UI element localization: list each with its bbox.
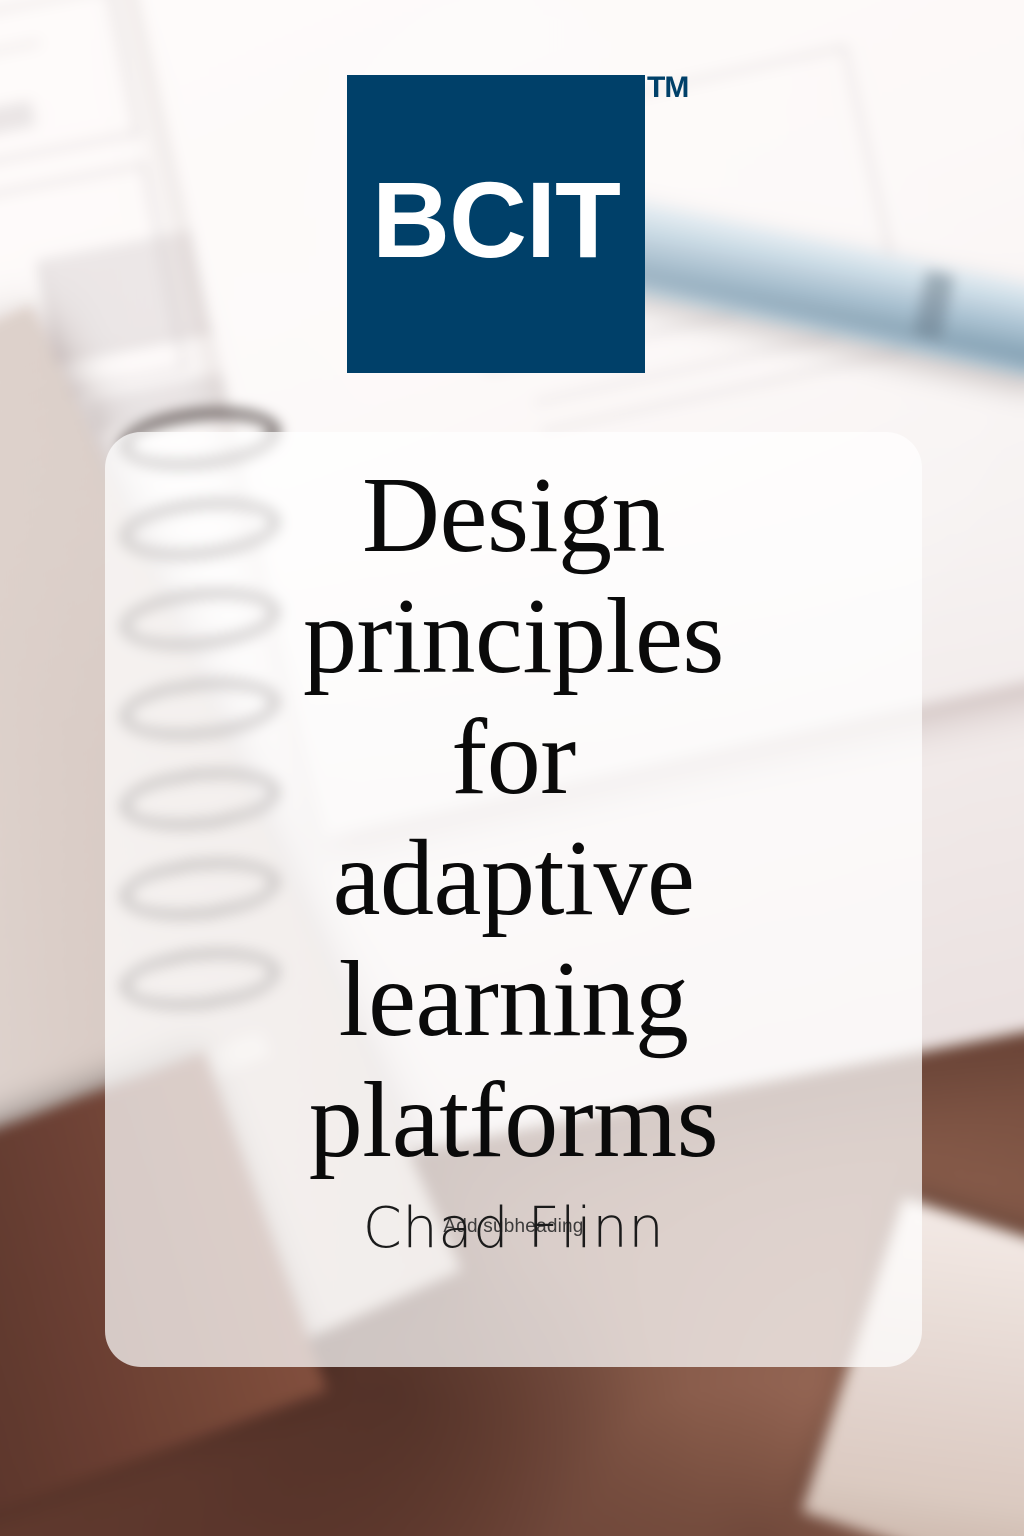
title-line: principles	[303, 577, 724, 696]
title-card: Design principles for adaptive learning …	[105, 432, 922, 1367]
trademark-icon: TM	[647, 71, 688, 105]
subtitle-area: Add subheading Chad Flinn	[105, 1190, 922, 1280]
title-line: learning	[339, 940, 689, 1059]
title-line: for	[451, 698, 575, 817]
logo-wordmark: BCIT	[347, 75, 645, 373]
poster-canvas: BCIT TM Design principles for adaptive l…	[0, 0, 1024, 1536]
author-name[interactable]: Chad Flinn	[105, 1196, 922, 1261]
title-line: platforms	[309, 1061, 718, 1180]
bcit-logo: BCIT TM	[347, 75, 685, 375]
title-line: adaptive	[333, 819, 695, 938]
page-title: Design principles for adaptive learning …	[105, 456, 922, 1182]
title-line: Design	[362, 456, 665, 575]
